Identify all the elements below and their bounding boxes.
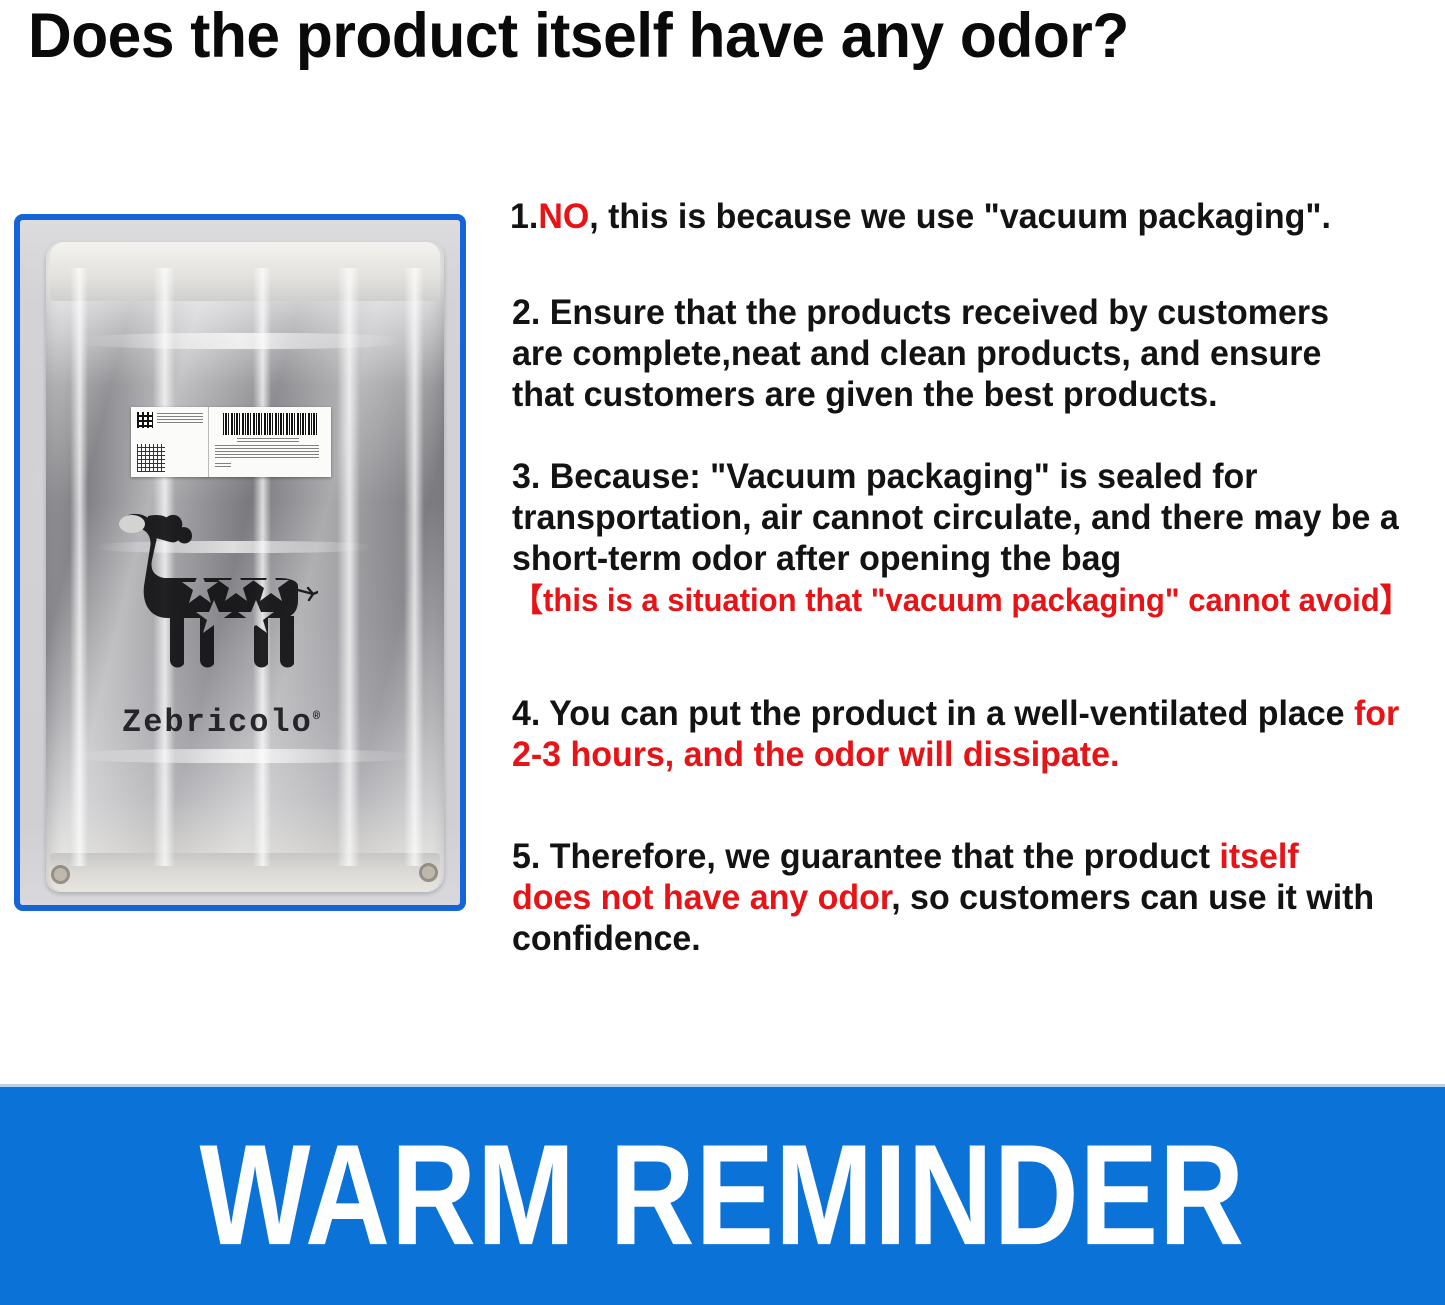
bag-grommet <box>51 865 70 884</box>
item-number: 1. <box>510 197 538 236</box>
item-number: 2. <box>512 293 540 332</box>
label-description-text <box>215 445 319 459</box>
item-text-red: 【this is a situation that "vacuum packag… <box>512 582 1411 618</box>
list-item: 3. Because: "Vacuum packaging" is sealed… <box>512 456 1404 620</box>
bag-top-seal <box>50 242 440 301</box>
registered-trademark-icon: ® <box>313 709 322 723</box>
item-text: You can put the product in a well-ventil… <box>540 694 1354 733</box>
brand-name: Zebricolo <box>122 704 313 741</box>
barcode-icon <box>223 413 319 435</box>
shipping-label <box>131 407 331 477</box>
plastic-highlight <box>70 749 412 763</box>
plastic-fold-streak <box>404 268 424 866</box>
list-item: 5. Therefore, we guarantee that the prod… <box>512 836 1385 959</box>
item-number: 3. <box>512 457 540 496</box>
item-number: 5. <box>512 837 540 876</box>
label-footer-text <box>215 463 231 467</box>
list-item: 4. You can put the product in a well-ven… <box>512 693 1404 775</box>
item-text: , <box>589 197 598 236</box>
shipping-label-left-panel <box>131 407 209 477</box>
item-text-red: NO <box>538 197 589 236</box>
label-address-text <box>157 413 203 424</box>
page-title: Does the product itself have any odor? <box>28 2 1372 70</box>
bag-bottom-seal <box>50 853 440 892</box>
bag-grommet <box>419 863 438 882</box>
shipping-label-right-panel <box>209 407 331 477</box>
item-text: Because: "Vacuum packaging" is sealed fo… <box>512 457 1399 578</box>
label-code-text <box>237 438 299 442</box>
item-text: Ensure that the products received by cus… <box>512 293 1329 414</box>
product-photo: Zebricolo® <box>20 220 460 905</box>
plastic-fold-streak <box>337 268 361 866</box>
item-number: 4. <box>512 694 540 733</box>
product-photo-frame: Zebricolo® <box>14 214 466 911</box>
zebra-giraffe-silhouette-icon <box>108 508 318 688</box>
item-text: this is because we use "vacuum packaging… <box>599 197 1331 236</box>
plastic-highlight <box>78 333 404 349</box>
list-item: 2. Ensure that the products received by … <box>512 292 1385 415</box>
item-text: Therefore, we guarantee that the product <box>540 837 1219 876</box>
plastic-fold-streak <box>70 268 88 866</box>
list-item: 1.NO, this is because we use "vacuum pac… <box>510 196 1402 237</box>
brand-wordmark: Zebricolo® <box>122 704 322 741</box>
infographic-page: Does the product itself have any odor? <box>0 0 1445 1305</box>
qr-code-icon <box>137 444 165 472</box>
banner-title: WARM REMINDER <box>200 1123 1246 1269</box>
warm-reminder-banner: WARM REMINDER <box>0 1087 1445 1305</box>
data-matrix-icon <box>137 412 153 428</box>
